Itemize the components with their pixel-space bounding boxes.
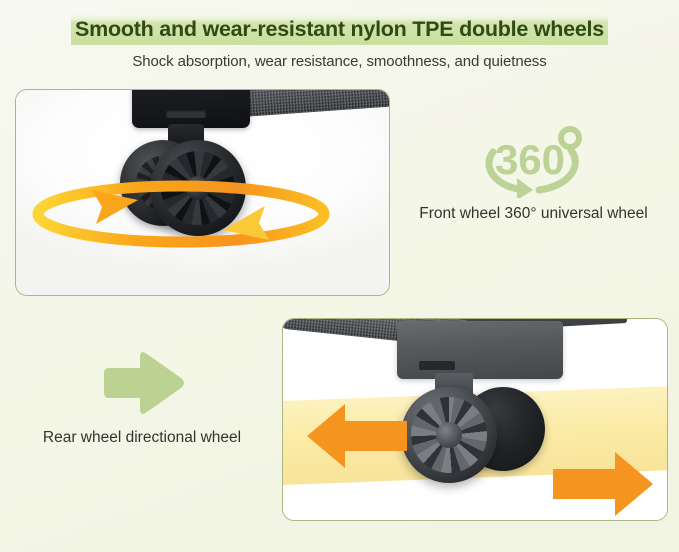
- front-wheel-photo-panel: [15, 89, 390, 296]
- page-title-wrap: Smooth and wear-resistant nylon TPE doub…: [0, 14, 679, 45]
- right-arrow-icon: [98, 348, 188, 418]
- orange-left-arrow-icon: [305, 399, 409, 473]
- rear-wheel-callout-label: Rear wheel directional wheel: [4, 429, 280, 447]
- rear-wheel-callout: [8, 348, 278, 418]
- front-wheel-disc: [401, 387, 497, 483]
- page-title: Smooth and wear-resistant nylon TPE doub…: [71, 14, 608, 45]
- front-wheel-photo: [16, 90, 389, 295]
- luggage-base-housing: [132, 90, 250, 128]
- luggage-base-housing: [397, 321, 563, 379]
- 360-rotation-icon: 360: [479, 122, 585, 198]
- front-wheel-callout-label: Front wheel 360° universal wheel: [392, 205, 675, 223]
- 360-icon-text: 360: [495, 136, 565, 183]
- rear-wheel-photo: [283, 319, 667, 520]
- rear-wheel-photo-panel: [282, 318, 668, 521]
- infographic-root: Smooth and wear-resistant nylon TPE doub…: [0, 0, 679, 552]
- page-subtitle: Shock absorption, wear resistance, smoot…: [0, 53, 679, 70]
- orange-right-arrow-icon: [551, 447, 655, 520]
- front-wheel-disc: [150, 140, 246, 236]
- front-wheel-callout: 360: [392, 122, 672, 198]
